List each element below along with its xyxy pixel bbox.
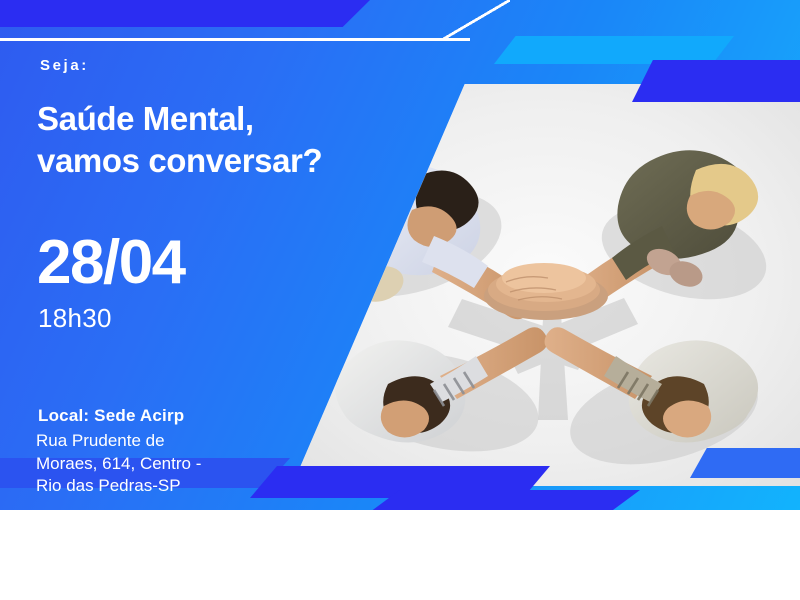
event-poster: Seja: Saúde Mental, vamos conversar? 28/… (0, 0, 800, 600)
accent-parallelogram-bottom-low (370, 490, 640, 512)
event-venue: Local: Sede Acirp (38, 406, 184, 426)
accent-parallelogram-top-light (494, 36, 734, 64)
top-accent-bar (0, 0, 370, 27)
address-line-2: Moraes, 614, Centro - (36, 453, 286, 476)
kicker-text: Seja: (40, 57, 89, 74)
headline-line-1: Saúde Mental, (37, 98, 437, 140)
address-line-3: Rio das Pedras-SP (36, 475, 286, 498)
headline-line-2: vamos conversar? (37, 140, 437, 182)
page-title: Saúde Mental, vamos conversar? (37, 98, 437, 181)
address-line-1: Rua Prudente de (36, 430, 286, 453)
poster-footer: Apoio Realização (0, 510, 800, 600)
accent-parallelogram-top-dark (632, 60, 800, 102)
white-divider-diagonal (440, 0, 510, 41)
white-divider-line (0, 38, 470, 41)
event-address: Rua Prudente de Moraes, 614, Centro - Ri… (36, 430, 286, 498)
event-date: 28/04 (37, 232, 185, 294)
event-time: 18h30 (38, 303, 112, 334)
accent-parallelogram-right (690, 448, 800, 478)
